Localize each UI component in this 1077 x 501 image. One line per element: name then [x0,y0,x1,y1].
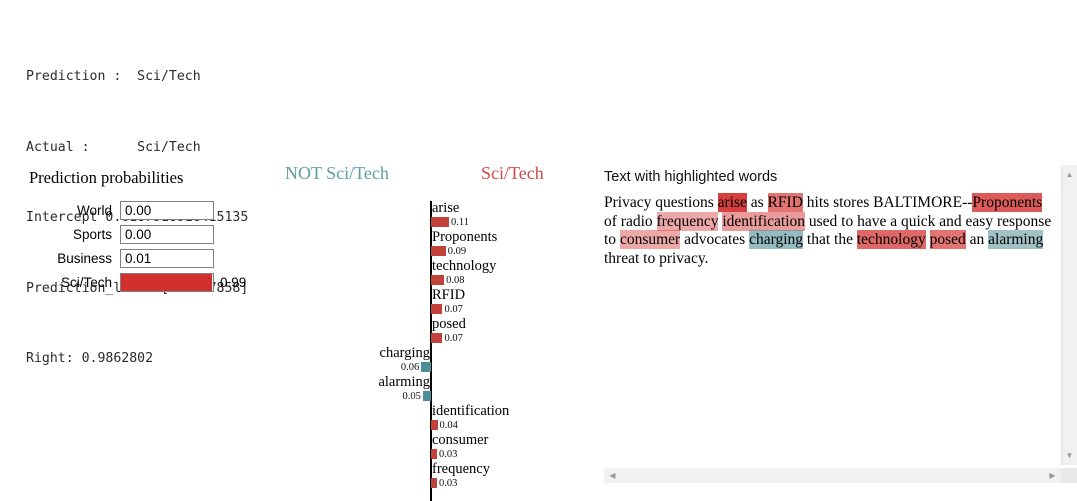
feature-weight-bar [431,449,437,459]
highlight-positive: technology [857,230,926,249]
feature-weight-row: alarming0.05 [270,375,600,404]
feature-weight-row: frequency0.03 [270,462,600,491]
scroll-right-arrow-icon[interactable]: ▶ [1045,468,1060,483]
highlight-positive: frequency [657,212,719,231]
feature-label: arise [432,201,459,216]
feature-weight-value: 0.04 [440,420,458,431]
feature-label: identification [432,404,509,419]
feature-label: alarming [378,375,430,390]
feature-weight-bar [431,304,442,314]
feature-weight-bar [431,246,446,256]
probability-class-label: World [0,203,120,218]
text-run: an [966,231,988,248]
highlight-negative: charging [749,230,803,249]
feature-label: posed [432,317,466,332]
prediction-probabilities-list: World0.00Sports0.00Business0.01Sci/Tech0… [0,200,278,293]
probability-value: 0.00 [125,203,151,219]
chart-label-sci-tech: Sci/Tech [481,163,544,184]
probability-value: 0.00 [125,227,151,243]
feature-weight-row: posed0.07 [270,317,600,346]
probability-row: Sports0.00 [0,224,278,245]
text-run: as [747,194,768,211]
probability-row: Sci/Tech0.99 [0,272,278,293]
text-run [926,231,930,248]
probability-bar-track [120,273,214,292]
probability-bar-track: 0.00 [120,225,214,244]
summary-line-prediction: Prediction : Sci/Tech [26,65,248,89]
feature-label: RFID [432,288,465,303]
highlight-negative: alarming [988,230,1043,249]
probability-class-label: Sports [0,227,120,242]
feature-weight-row: identification0.04 [270,404,600,433]
chart-plot-area: arise0.11Proponents0.09technology0.08RFI… [270,201,600,501]
highlight-positive: consumer [620,230,680,249]
probability-value: 0.01 [125,251,151,267]
probability-value: 0.99 [220,275,246,290]
feature-label: technology [432,259,496,274]
horizontal-scrollbar[interactable]: ◀ ▶ [604,468,1061,483]
feature-weight-chart: NOT Sci/Tech Sci/Tech arise0.11Proponent… [270,163,600,501]
feature-label: Proponents [432,230,497,245]
chart-class-headers: NOT Sci/Tech Sci/Tech [270,163,600,193]
scroll-left-arrow-icon[interactable]: ◀ [605,468,620,483]
feature-weight-row: consumer0.03 [270,433,600,462]
prediction-probabilities-title: Prediction probabilities [29,168,278,188]
highlight-positive: posed [930,230,966,249]
text-run: that the [803,231,857,248]
probability-bar-track: 0.01 [120,249,214,268]
feature-weight-value: 0.09 [448,246,466,257]
summary-line-actual: Actual : Sci/Tech [26,136,248,160]
feature-weight-bar [431,478,437,488]
feature-weight-bar [431,275,444,285]
feature-weight-value: 0.07 [444,304,462,315]
feature-weight-value: 0.06 [401,362,419,373]
highlighted-text-panel: Text with highlighted words Privacy ques… [598,165,1077,501]
feature-weight-bar [421,362,431,372]
feature-weight-value: 0.11 [451,217,469,228]
feature-weight-row: arise0.11 [270,201,600,230]
feature-weight-row: RFID0.07 [270,288,600,317]
feature-weight-value: 0.05 [402,391,420,402]
feature-label: frequency [432,462,490,477]
feature-weight-value: 0.07 [444,333,462,344]
feature-label: consumer [432,433,488,448]
scrollbar-corner [1061,468,1077,483]
probability-class-label: Sci/Tech [0,275,120,290]
highlight-positive: identification [722,212,805,231]
feature-weight-row: charging0.06 [270,346,600,375]
probability-bar-fill [121,274,212,291]
probability-class-label: Business [0,251,120,266]
feature-weight-bar [431,333,442,343]
highlighted-text-body: Privacy questions arise as RFID hits sto… [604,194,1052,268]
text-run: advocates [680,231,749,248]
scroll-up-arrow-icon[interactable]: ▲ [1062,167,1077,182]
chart-label-not-sci-tech: NOT Sci/Tech [285,163,389,184]
feature-weight-row: technology0.08 [270,259,600,288]
text-run: hits stores BALTIMORE-- [803,194,973,211]
feature-weight-value: 0.03 [439,478,457,489]
feature-weight-value: 0.08 [446,275,464,286]
prediction-probabilities-panel: Prediction probabilities World0.00Sports… [0,168,278,296]
highlight-positive: arise [718,193,747,212]
feature-weight-value: 0.03 [439,449,457,460]
feature-label: charging [380,346,430,361]
feature-weight-bar [431,420,438,430]
probability-row: World0.00 [0,200,278,221]
highlight-positive: RFID [768,193,803,212]
text-run: of radio [604,213,657,230]
probability-bar-track: 0.00 [120,201,214,220]
feature-weight-bar [431,217,449,227]
summary-line-right: Right: 0.9862802 [26,347,248,371]
feature-weight-row: Proponents0.09 [270,230,600,259]
text-run: threat to privacy. [604,250,708,267]
scroll-down-arrow-icon[interactable]: ▼ [1062,448,1077,463]
probability-row: Business0.01 [0,248,278,269]
feature-weight-bar [423,391,431,401]
text-run: Privacy questions [604,194,718,211]
highlight-positive: Proponents [972,193,1042,212]
highlighted-text-title: Text with highlighted words [604,169,777,185]
vertical-scrollbar[interactable]: ▲ ▼ [1061,165,1077,465]
